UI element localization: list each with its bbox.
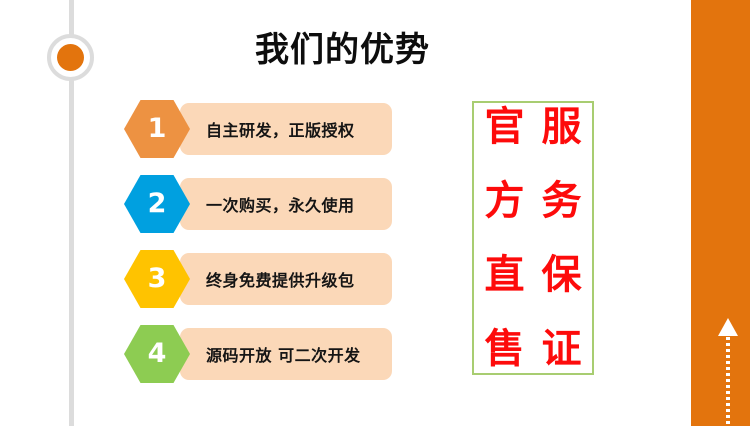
slogan-char: 服 [542,107,582,147]
slogan-char: 方 [485,181,525,221]
list-item[interactable]: 1 自主研发，正版授权 [0,100,420,158]
advantage-label: 源码开放 可二次开发 [206,325,361,383]
slogan-box: 官 方 直 售 服 务 保 证 [472,101,594,375]
list-item[interactable]: 4 源码开放 可二次开发 [0,325,420,383]
up-arrow-dotted-icon [718,318,738,336]
advantage-number: 2 [148,190,167,219]
slogan-char: 务 [542,181,582,221]
slogan-char: 官 [485,107,525,147]
slogan-char: 保 [542,255,582,295]
right-accent-band [691,0,750,426]
advantage-label: 终身免费提供升级包 [206,250,355,308]
list-item[interactable]: 3 终身免费提供升级包 [0,250,420,308]
slogan-char: 证 [542,329,582,369]
slogan-char: 直 [485,255,525,295]
advantage-label: 一次购买，永久使用 [206,175,355,233]
list-item[interactable]: 2 一次购买，永久使用 [0,175,420,233]
slogan-column-right: 服 务 保 证 [533,107,590,369]
page-title: 我们的优势 [255,22,430,71]
timeline-marker-dot [57,44,84,71]
up-arrow-dotted-stem [726,337,730,426]
slogan-char: 售 [485,329,525,369]
advantage-number: 1 [148,115,167,144]
slogan-column-left: 官 方 直 售 [476,107,533,369]
advantage-list: 1 自主研发，正版授权 2 一次购买，永久使用 3 终身免费提供升级包 4 源码… [0,100,420,400]
advantage-number: 3 [148,265,167,294]
advantage-number: 4 [148,340,167,369]
advantage-label: 自主研发，正版授权 [206,100,355,158]
